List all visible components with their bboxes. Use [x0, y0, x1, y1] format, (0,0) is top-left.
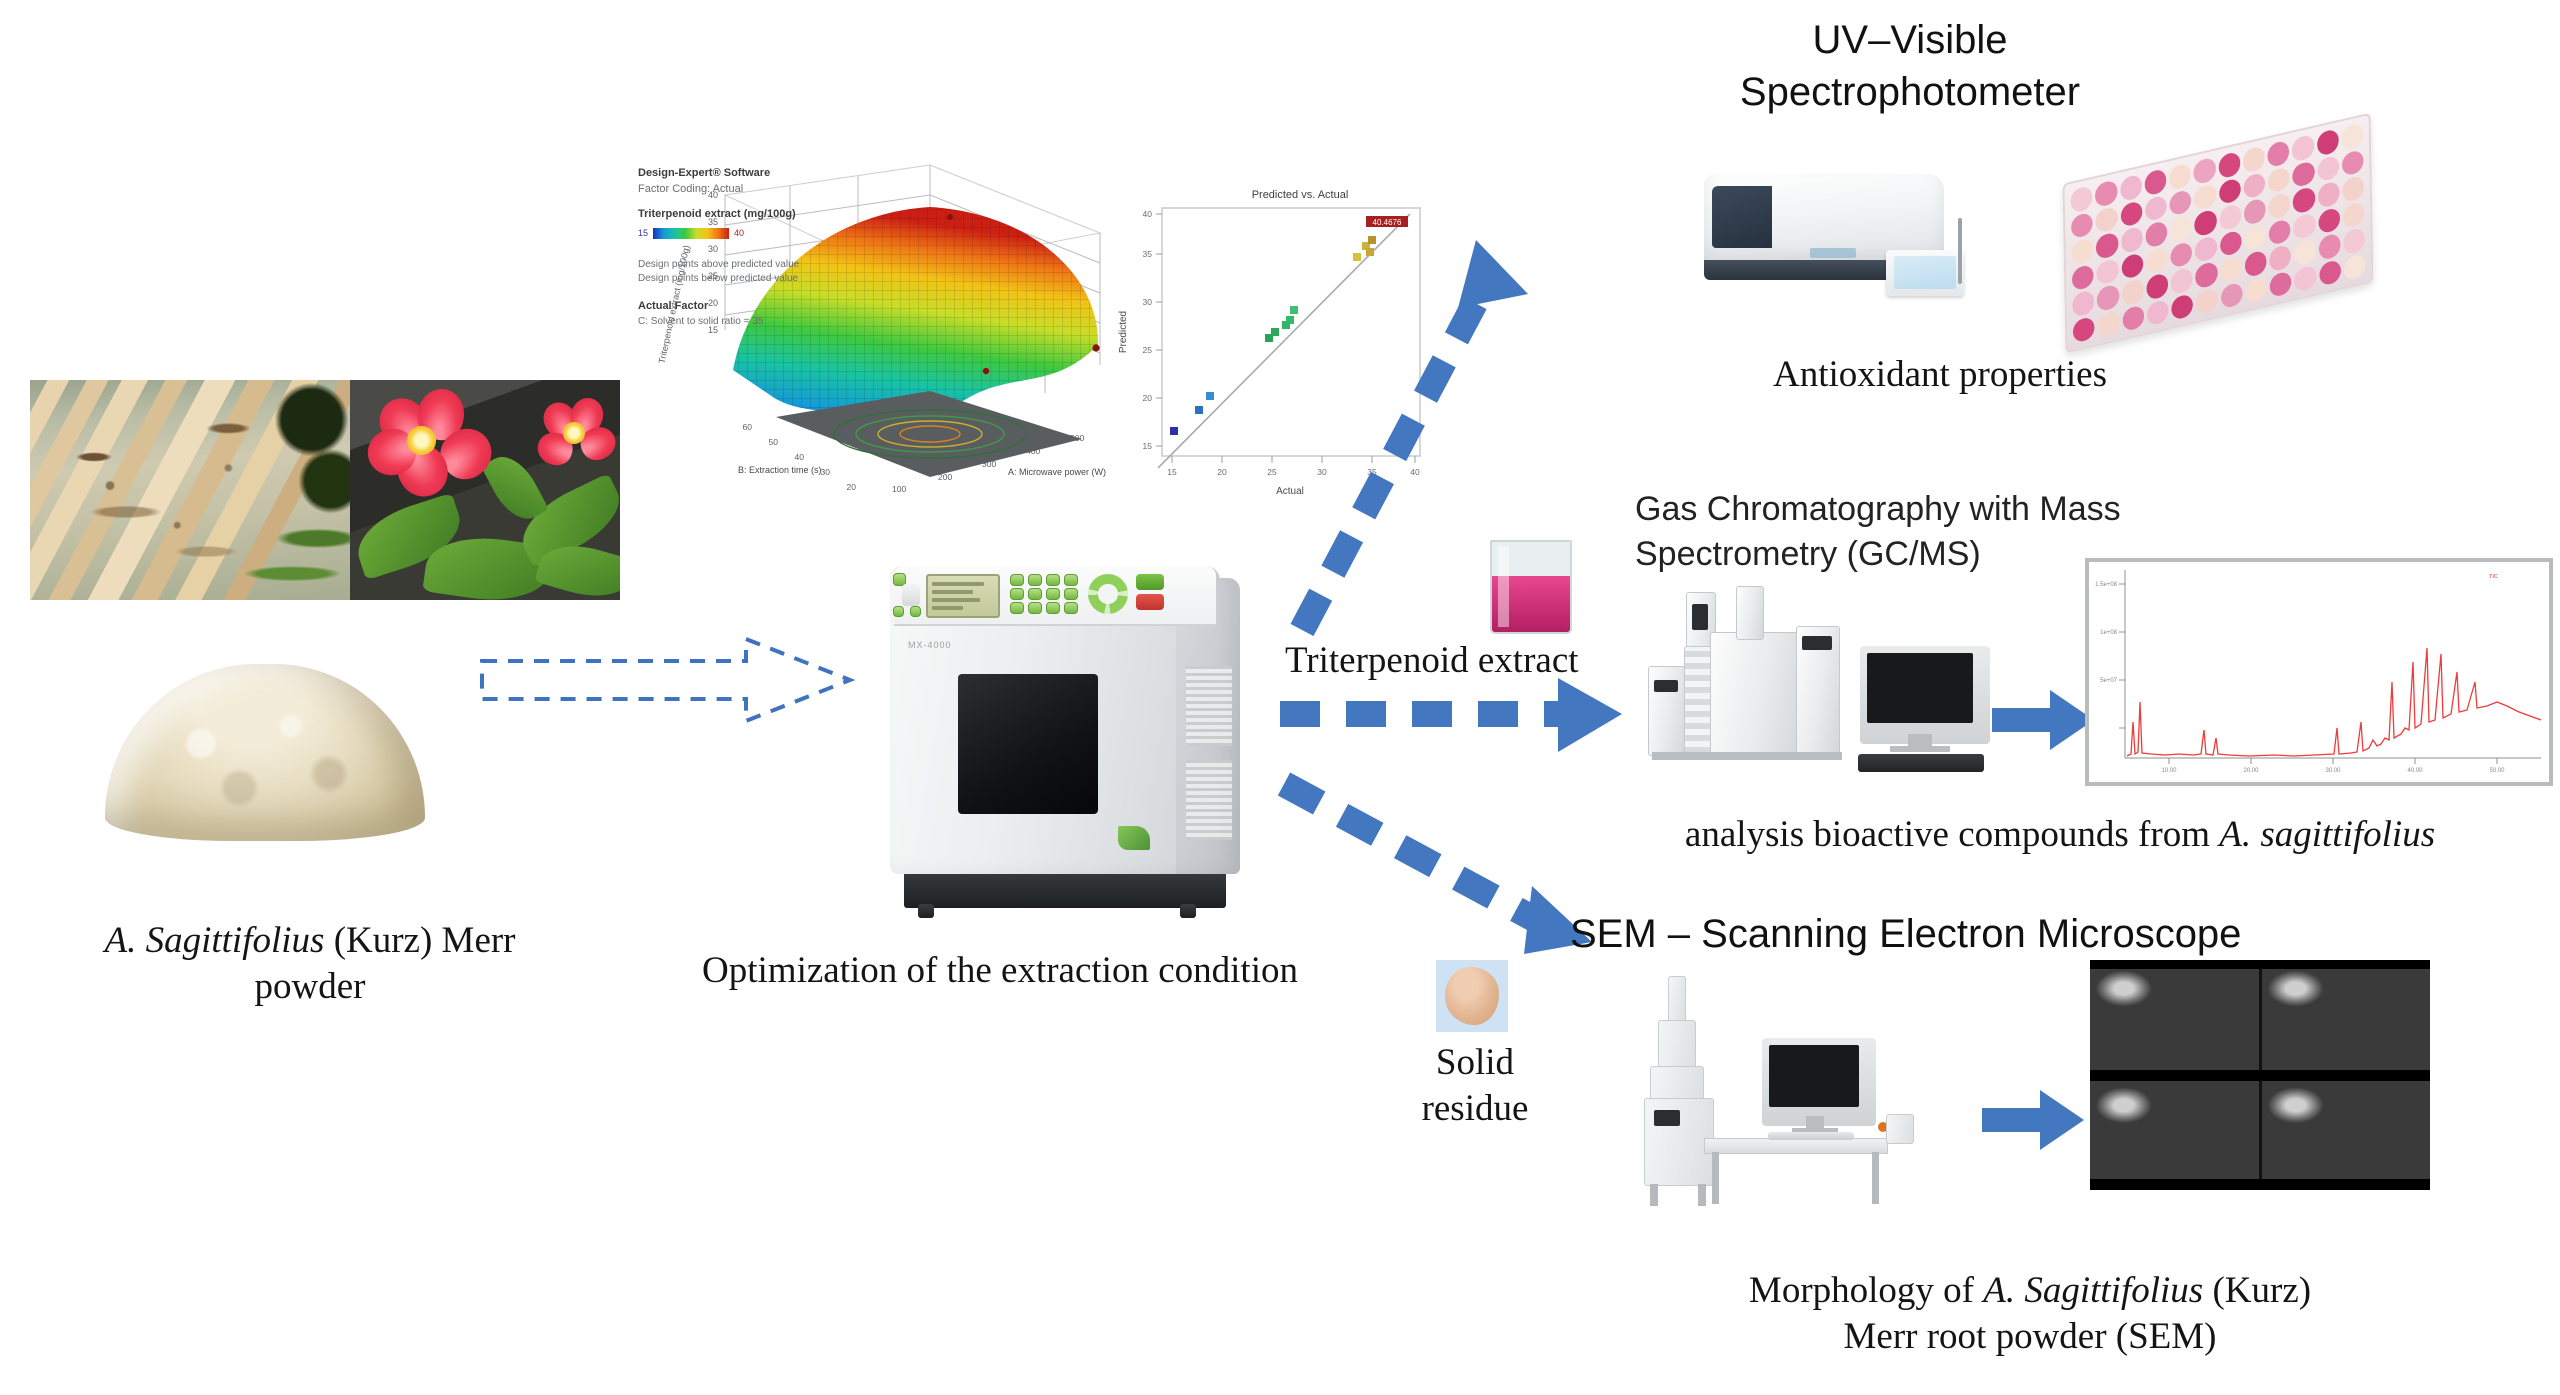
- svg-text:100: 100: [892, 484, 906, 494]
- rsm-design-note-2: Design points below predicted value: [638, 272, 828, 287]
- rsm-actual-factor-note: C: Solvent to solid ratio = 35: [638, 315, 828, 330]
- svg-text:25: 25: [1143, 345, 1153, 355]
- svg-text:B: Extraction time (s): B: Extraction time (s): [738, 465, 822, 475]
- rsm-software-line2: Factor Coding: Actual: [638, 182, 828, 198]
- svg-text:200: 200: [938, 472, 952, 482]
- sem-branch-caption: Morphology of A. Sagittifolius (Kurz) Me…: [1600, 1268, 2460, 1360]
- sem-instrument: [1640, 970, 1970, 1230]
- svg-text:40: 40: [1143, 209, 1153, 219]
- uv-title-line1: UV–Visible: [1560, 14, 2260, 66]
- rsm-response-label: Triterpenoid extract (mg/100g): [638, 207, 828, 223]
- gcms-caption-species: A. sagittifolius: [2219, 814, 2435, 855]
- sem-caption-plain-a: Morphology of: [1749, 1270, 1983, 1311]
- left-caption-authority: (Kurz) Merr: [324, 920, 515, 961]
- svg-text:1.5e+08: 1.5e+08: [2095, 582, 2118, 588]
- uv-title-line2: Spectrophotometer: [1560, 66, 2260, 118]
- machine-brand-icon: [1118, 826, 1150, 850]
- left-caption: A. Sagittifolius (Kurz) Merr powder: [10, 918, 610, 1010]
- rsm-color-scale: [653, 228, 729, 239]
- solid-residue-line1: Solid: [1390, 1040, 1560, 1086]
- flow-sem-to-micrograph-arrow: [1980, 1080, 2090, 1160]
- svg-text:300: 300: [982, 459, 996, 469]
- flow-powder-to-extractor-arrow: [478, 625, 858, 735]
- triterpenoid-extract-label: Triterpenoid extract: [1285, 638, 1665, 684]
- svg-text:400: 400: [1026, 446, 1040, 456]
- roots-photo: [30, 380, 350, 600]
- gcms-caption-plain: analysis bioactive compounds from: [1685, 814, 2219, 855]
- rsm-design-note-1: Design points above predicted value: [638, 258, 828, 273]
- uv-branch-caption: Antioxidant properties: [1700, 352, 2180, 398]
- gcms-branch-caption: analysis bioactive compounds from A. sag…: [1560, 812, 2560, 858]
- svg-text:30: 30: [821, 467, 831, 477]
- svg-text:Predicted: Predicted: [1118, 311, 1129, 353]
- svg-text:TIC: TIC: [2489, 574, 2498, 580]
- svg-text:40: 40: [795, 452, 805, 462]
- uv-branch-title: UV–Visible Spectrophotometer: [1560, 14, 2260, 118]
- microwave-extraction-unit: MX-4000: [880, 548, 1280, 926]
- rsm-legend: Design-Expert® Software Factor Coding: A…: [638, 166, 828, 329]
- svg-text:60: 60: [743, 422, 753, 432]
- svg-text:15: 15: [1143, 441, 1153, 451]
- left-caption-line2: powder: [255, 966, 366, 1007]
- sem-caption-species: A. Sagittifolius: [1983, 1270, 2203, 1311]
- sem-branch-title: SEM – Scanning Electron Microscope: [1570, 908, 2470, 960]
- svg-text:20: 20: [847, 482, 857, 492]
- rsm-legend-low: 15: [638, 227, 648, 240]
- rsm-software-line1: Design-Expert® Software: [638, 166, 828, 182]
- svg-text:50: 50: [769, 437, 779, 447]
- svg-text:25: 25: [1267, 467, 1277, 477]
- svg-text:1e+08: 1e+08: [2100, 630, 2118, 636]
- svg-text:40.00: 40.00: [2407, 768, 2423, 774]
- svg-text:50.00: 50.00: [2489, 768, 2505, 774]
- svg-text:30: 30: [1143, 297, 1153, 307]
- svg-text:10.00: 10.00: [2161, 768, 2177, 774]
- gc-chromatogram: 1.5e+081e+085e+07 10.0020.0030.00 40.005…: [2085, 558, 2553, 786]
- solid-residue-line2: residue: [1390, 1086, 1560, 1132]
- svg-text:35: 35: [1143, 249, 1153, 259]
- svg-text:500: 500: [1070, 433, 1084, 443]
- flowers-photo: [350, 380, 620, 600]
- svg-text:20: 20: [1217, 467, 1227, 477]
- gcms-instrument: [1640, 580, 2020, 800]
- sem-micrograph-panel: [2090, 960, 2430, 1190]
- sem-caption-line2: Merr root powder (SEM): [1844, 1316, 2217, 1357]
- machine-model-label: MX-4000: [908, 640, 952, 650]
- solid-residue-swatch: [1436, 960, 1508, 1032]
- svg-text:15: 15: [1167, 467, 1177, 477]
- beaker-pink-extract: [1490, 540, 1572, 634]
- solid-residue-label: Solid residue: [1390, 1040, 1560, 1132]
- 96-well-microplate: [2063, 113, 2374, 354]
- pva-high-label: 40.4676: [1373, 218, 1402, 227]
- svg-text:20: 20: [1143, 393, 1153, 403]
- rsm-legend-high: 40: [734, 227, 744, 240]
- svg-text:A: Microwave power (W): A: Microwave power (W): [1008, 467, 1106, 477]
- svg-text:30.00: 30.00: [2325, 768, 2341, 774]
- uv-vis-spectrophotometer: [1690, 160, 2050, 340]
- powder-photo: [75, 620, 455, 865]
- rsm-actual-factor-header: Actual Factor: [638, 299, 828, 315]
- svg-text:5e+07: 5e+07: [2100, 678, 2118, 684]
- sem-caption-plain-b: (Kurz): [2203, 1270, 2311, 1311]
- svg-text:Predicted vs. Actual: Predicted vs. Actual: [1252, 189, 1349, 201]
- left-caption-species: A. Sagittifolius: [104, 920, 324, 961]
- svg-text:20.00: 20.00: [2243, 768, 2259, 774]
- gcms-title-line1: Gas Chromatography with Mass: [1635, 487, 2255, 532]
